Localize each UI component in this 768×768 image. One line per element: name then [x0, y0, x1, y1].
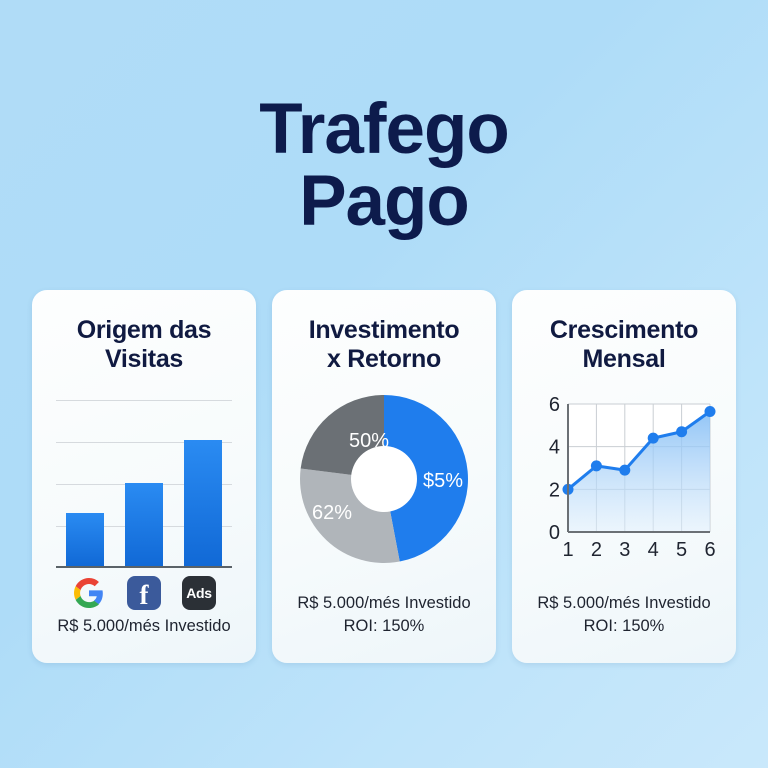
page-title-line2: Pago: [0, 166, 768, 238]
bar-chart-axis: [56, 566, 232, 568]
data-point: [705, 406, 716, 417]
x-tick-label: 6: [704, 539, 715, 561]
caption-invested: R$ 5.000/més Investido: [57, 617, 230, 635]
card-investimento-x-retorno[interactable]: Investimento x Retorno $5% 62% 50% R$ 5.…: [272, 290, 496, 663]
caption-invested: R$ 5.000/més Investido: [537, 594, 710, 612]
bar-chart-bars: [56, 400, 232, 566]
bar-facebook: [125, 483, 163, 566]
bar-google: [66, 513, 104, 566]
source-icons: f Ads: [32, 576, 256, 610]
caption-roi: ROI: 150%: [512, 615, 736, 637]
data-point: [676, 426, 687, 437]
card-title: Crescimento Mensal: [512, 316, 736, 374]
card-caption: R$ 5.000/més Investido: [32, 615, 256, 637]
facebook-glyph: f: [140, 580, 149, 610]
card-title: Origem das Visitas: [32, 316, 256, 374]
donut-chart-wrap: $5% 62% 50%: [272, 394, 496, 564]
data-point: [591, 460, 602, 471]
facebook-icon[interactable]: f: [127, 576, 161, 610]
donut-label-light: 62%: [312, 502, 352, 525]
card-title-line2: Mensal: [583, 345, 666, 373]
page-title-line1: Trafego: [259, 90, 508, 169]
data-point: [619, 465, 630, 476]
card-caption: R$ 5.000/més Investido ROI: 150%: [512, 592, 736, 637]
x-tick-label: 2: [591, 539, 602, 561]
x-tick-label: 4: [648, 539, 659, 561]
google-ads-icon[interactable]: Ads: [182, 576, 216, 610]
card-title-line2: x Retorno: [327, 345, 441, 373]
donut-label-dark: 50%: [349, 430, 389, 453]
bar-chart: [56, 400, 232, 568]
page-title: Trafego Pago: [0, 94, 768, 239]
y-tick-label: 0: [549, 522, 560, 544]
card-crescimento-mensal[interactable]: Crescimento Mensal 0246 123456: [512, 290, 736, 663]
x-tick-label: 3: [619, 539, 630, 561]
y-tick-label: 2: [549, 479, 560, 501]
data-point: [648, 433, 659, 444]
caption-roi: ROI: 150%: [272, 615, 496, 637]
card-caption: R$ 5.000/més Investido ROI: 150%: [272, 592, 496, 637]
donut-chart: $5% 62% 50%: [299, 394, 469, 564]
y-tick-label: 6: [549, 394, 560, 416]
card-title-line1: Origem das: [77, 316, 212, 344]
bar-ads: [184, 440, 222, 566]
x-tick-label: 5: [676, 539, 687, 561]
x-tick-label: 1: [562, 539, 573, 561]
card-origem-das-visitas[interactable]: Origem das Visitas: [32, 290, 256, 663]
card-title-line1: Investimento: [309, 316, 460, 344]
google-ads-label: Ads: [186, 585, 212, 601]
caption-invested: R$ 5.000/més Investido: [297, 594, 470, 612]
y-tick-label: 4: [549, 437, 560, 459]
cards-row: Origem das Visitas: [32, 290, 736, 663]
donut-label-blue: $5%: [423, 470, 463, 493]
card-title-line2: Visitas: [105, 345, 183, 373]
google-icon[interactable]: [72, 576, 106, 610]
card-title-line1: Crescimento: [550, 316, 698, 344]
line-chart: 0246 123456: [530, 394, 720, 579]
card-title: Investimento x Retorno: [272, 316, 496, 374]
